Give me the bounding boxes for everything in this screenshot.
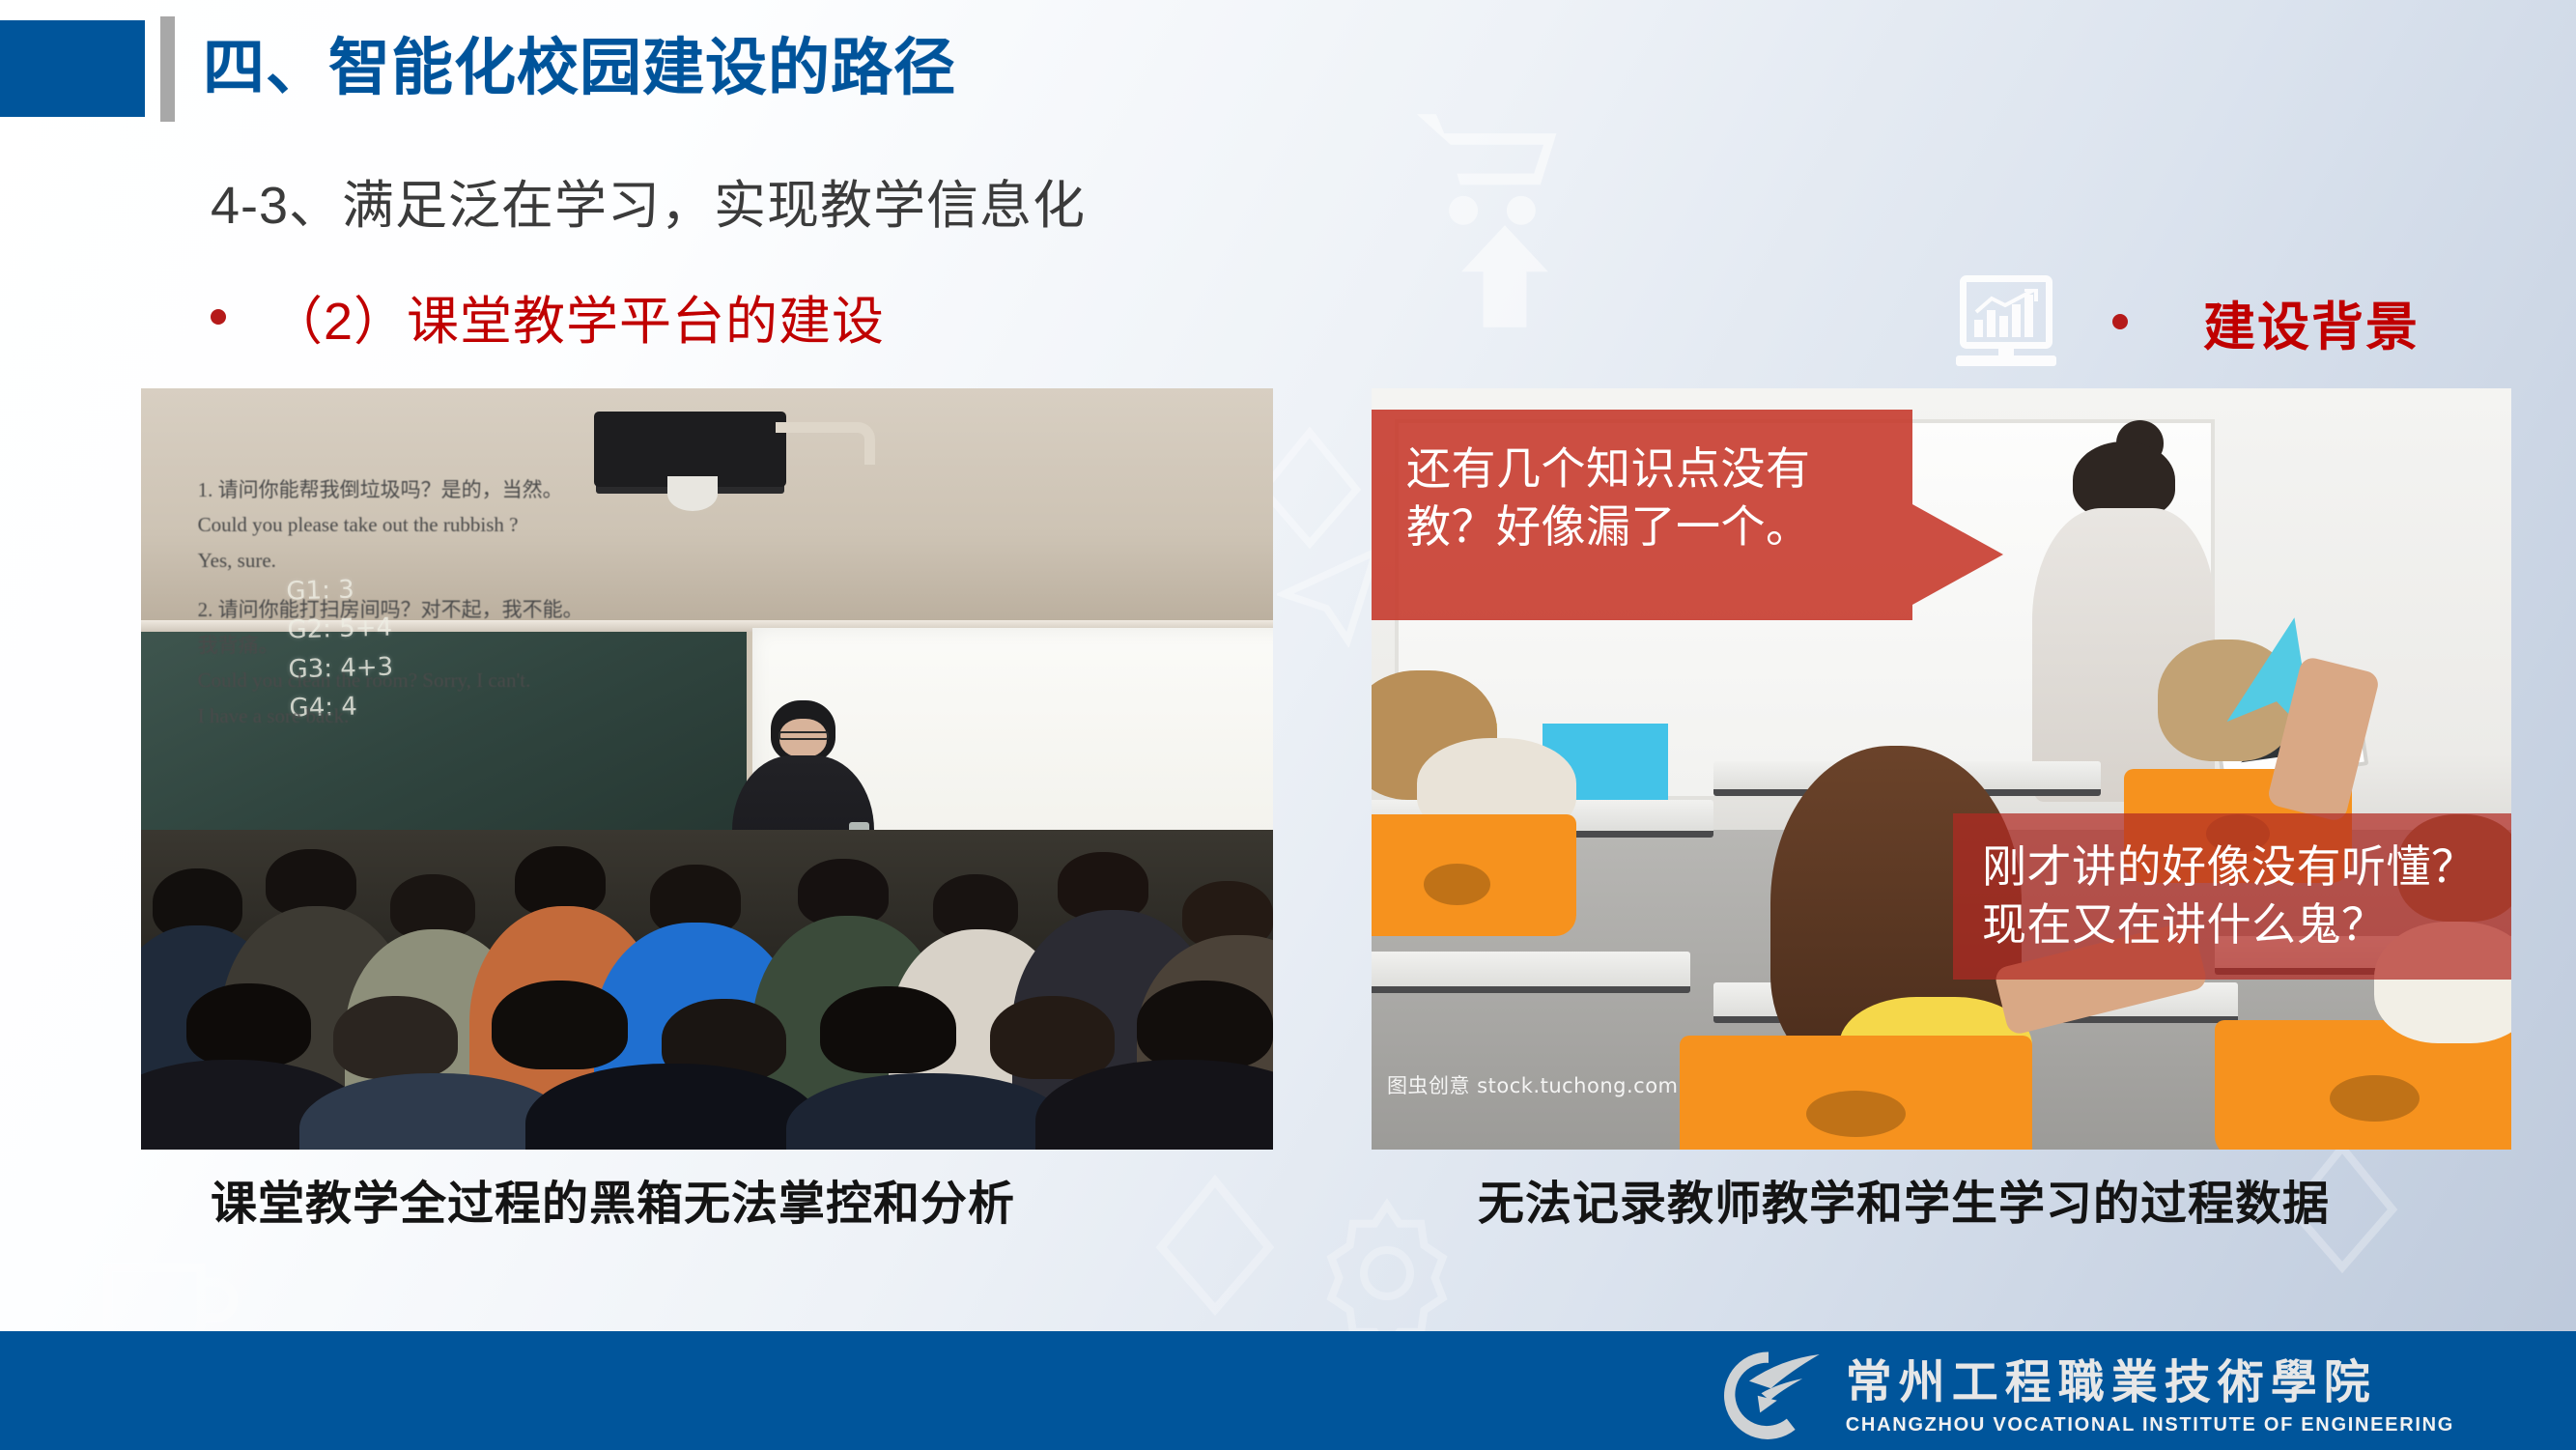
stock-watermark: 图虫创意 stock.tuchong.com — [1387, 1070, 1679, 1099]
header-accent-bar — [160, 16, 175, 122]
caption-left: 课堂教学全过程的黑箱无法掌控和分析 — [211, 1165, 1015, 1233]
monitor-chart-icon — [1956, 275, 2056, 368]
caption-right: 无法记录教师教学和学生学习的过程数据 — [1478, 1165, 2330, 1233]
institution-name-cn: 常州工程職業技術學院 — [1846, 1357, 2454, 1409]
callout-bubble-teacher: 还有几个知识点没有教？好像漏了一个。 — [1372, 410, 1912, 620]
background-bullet-marker-icon — [2112, 314, 2128, 329]
classroom-photo-right: 还有几个知识点没有教？好像漏了一个。 刚才讲的好像没有听懂？现在又在讲什么鬼？ … — [1372, 388, 2511, 1150]
footer-bar: 常州工程職業技術學院 CHANGZHOU VOCATIONAL INSTITUT… — [0, 1331, 2576, 1450]
callout-text: 刚才讲的好像没有听懂？现在又在讲什么鬼？ — [1982, 839, 2492, 954]
background-label: 建设背景 — [2203, 284, 2420, 360]
diamond-icon — [1147, 1173, 1283, 1318]
student-crowd — [141, 830, 1273, 1150]
paper-plane-icon — [1277, 541, 1383, 647]
institution-logo: 常州工程職業技術學院 CHANGZHOU VOCATIONAL INSTITUT… — [1707, 1345, 2454, 1449]
slide-canvas: 四、智能化校园建设的路径 4-3、满足泛在学习，实现教学信息化 （2）课堂教学平… — [0, 0, 2576, 1450]
classroom-photo-left: G1: 3 G2: 5+4 G3: 4+3 G4: 4 1. 请问你能帮我倒垃圾… — [141, 388, 1273, 1150]
section-bullet-row: （2）课堂教学平台的建设 — [211, 278, 885, 355]
up-arrow-icon — [1458, 222, 1551, 330]
swoosh-logo-icon — [1707, 1345, 1830, 1449]
page-subtitle: 4-3、满足泛在学习，实现教学信息化 — [211, 162, 1086, 239]
callout-text: 还有几个知识点没有教？好像漏了一个。 — [1406, 441, 1880, 556]
bullet-marker-icon — [211, 309, 226, 325]
background-label-group: 建设背景 — [1956, 275, 2420, 368]
projection-screen-text: 1. 请问你能帮我倒垃圾吗？是的，当然。 Could you please ta… — [198, 472, 1239, 734]
shopping-cart-icon — [1412, 104, 1572, 249]
header-accent-square — [0, 20, 145, 117]
gear-icon — [1310, 1196, 1464, 1350]
institution-name-en: CHANGZHOU VOCATIONAL INSTITUTE OF ENGINE… — [1846, 1414, 2454, 1436]
page-title: 四、智能化校园建设的路径 — [203, 18, 956, 107]
section-bullet-label: （2）课堂教学平台的建设 — [270, 278, 885, 355]
callout-bubble-student: 刚才讲的好像没有听懂？现在又在讲什么鬼？ — [1953, 813, 2511, 980]
